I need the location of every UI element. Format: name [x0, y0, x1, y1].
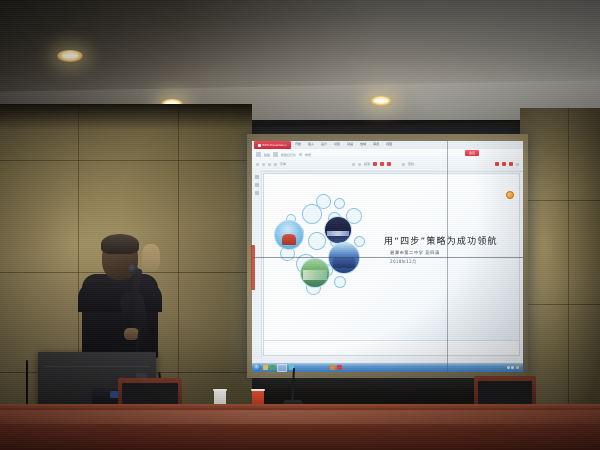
- menu-item-transitions[interactable]: 切换: [334, 142, 340, 146]
- shape-outline-icon[interactable]: [380, 162, 384, 166]
- wall-top-shadow: [0, 104, 252, 130]
- conference-hall-photo: WPS Presentation 文件 开始 插入 设计 切换 动画 放映 审阅…: [0, 0, 600, 450]
- bubble-cluster-graphic: [272, 192, 380, 300]
- menu-bar[interactable]: 文件 开始 插入 设计 切换 动画 放映 审阅 视图: [282, 142, 392, 146]
- ribbon-label-layout: 布局: [305, 153, 311, 157]
- app-red-icon[interactable]: [337, 365, 342, 370]
- table-icon[interactable]: [495, 162, 499, 166]
- decorative-bubble: [302, 204, 322, 224]
- ribbon-group-paragraph[interactable]: 段落: [352, 162, 391, 166]
- downlight-left: [57, 50, 83, 62]
- red-cup-rim: [251, 389, 265, 391]
- decorative-bubble: [308, 232, 326, 250]
- ribbon-group-clipboard[interactable]: 粘贴 新建幻灯片 布局: [256, 152, 311, 157]
- tray-shield-icon[interactable]: [516, 366, 519, 369]
- membership-badge[interactable]: 会员: [465, 150, 479, 156]
- white-cup-rim: [213, 389, 227, 391]
- presenter: [78, 236, 162, 358]
- search-icon[interactable]: [402, 163, 405, 166]
- slide-notes-pane[interactable]: [264, 340, 519, 355]
- more-icon[interactable]: [516, 163, 519, 166]
- podium-seam: [44, 366, 150, 367]
- photo-bubble-pagoda: [274, 220, 304, 250]
- slide-title: 用“四步”策略为成功领航: [384, 234, 498, 247]
- ribbon-label-paragraph: 段落: [364, 162, 370, 166]
- presenter-hair: [101, 234, 139, 254]
- menu-item-design[interactable]: 设计: [321, 142, 327, 146]
- slide-subtitle: 湘潭市第二中学 彭四清: [390, 250, 440, 256]
- underline-icon[interactable]: [268, 163, 271, 166]
- shape-fill-icon[interactable]: [373, 162, 377, 166]
- slide-notification-icon[interactable]: [506, 191, 514, 199]
- folder-icon[interactable]: [263, 365, 268, 370]
- projector-panel-seam-horizontal: [252, 257, 523, 258]
- browser-icon[interactable]: [270, 365, 275, 370]
- screen-edge-red-marker: [251, 245, 255, 290]
- decorative-bubble: [334, 276, 346, 288]
- menu-item-home[interactable]: 开始: [295, 142, 301, 146]
- downlight-right-glow: [374, 100, 389, 103]
- chair-right-back: [478, 381, 532, 404]
- layout-icon[interactable]: [299, 153, 302, 156]
- tray-network-icon[interactable]: [507, 366, 510, 369]
- app-orange-icon[interactable]: [330, 365, 335, 370]
- wps-logo-icon: [258, 144, 261, 147]
- tray-volume-icon[interactable]: [511, 366, 514, 369]
- downlight-left-glow: [63, 55, 78, 58]
- outline-icon[interactable]: [255, 175, 259, 179]
- system-tray[interactable]: [507, 366, 522, 369]
- thumbnail-icon[interactable]: [255, 183, 259, 187]
- chart-icon[interactable]: [502, 162, 506, 166]
- presenter-face-highlight: [142, 244, 160, 272]
- slide-canvas[interactable]: 用“四步”策略为成功领航 湘潭市第二中学 彭四清 2018年12月: [263, 173, 520, 356]
- decorative-bubble: [334, 198, 345, 209]
- power-cable: [26, 360, 28, 408]
- photo-bubble-campus: [300, 258, 330, 288]
- photo-bubble-building: [328, 242, 360, 274]
- photo-bubble-night-city: [324, 216, 352, 244]
- ribbon-group-find[interactable]: 查找: [402, 162, 414, 166]
- downlight-right: [370, 96, 392, 106]
- start-orb-icon[interactable]: [254, 364, 261, 371]
- chair-left-back: [122, 383, 178, 404]
- ribbon-label-font: 字体: [280, 162, 286, 166]
- align-left-icon[interactable]: [352, 163, 355, 166]
- italic-icon[interactable]: [262, 163, 265, 166]
- slide-date: 2018年12月: [390, 259, 416, 265]
- ribbon-label-new-slide: 新建幻灯片: [281, 153, 296, 157]
- ribbon-label-find: 查找: [408, 162, 414, 166]
- picture-icon[interactable]: [509, 162, 513, 166]
- menu-item-review[interactable]: 审阅: [373, 142, 379, 146]
- paste-icon[interactable]: [256, 152, 261, 157]
- menu-item-view[interactable]: 视图: [386, 142, 392, 146]
- font-color-icon[interactable]: [274, 163, 277, 166]
- decorative-bubble: [354, 236, 365, 247]
- menu-item-insert[interactable]: 插入: [308, 142, 314, 146]
- ribbon-group-right[interactable]: [495, 162, 519, 166]
- ribbon-label-paste: 粘贴: [264, 153, 270, 157]
- menu-item-file[interactable]: 文件: [282, 142, 288, 146]
- menu-item-animations[interactable]: 动画: [347, 142, 353, 146]
- notes-icon[interactable]: [255, 191, 259, 195]
- align-center-icon[interactable]: [358, 163, 361, 166]
- taskbar-window-button[interactable]: [277, 364, 287, 372]
- drawing-icon[interactable]: [387, 162, 391, 166]
- new-slide-icon[interactable]: [273, 152, 278, 157]
- bold-icon[interactable]: [256, 163, 259, 166]
- table-reflection: [0, 410, 600, 424]
- ribbon-group-font[interactable]: 字体: [256, 162, 286, 166]
- menu-item-slideshow[interactable]: 放映: [360, 142, 366, 146]
